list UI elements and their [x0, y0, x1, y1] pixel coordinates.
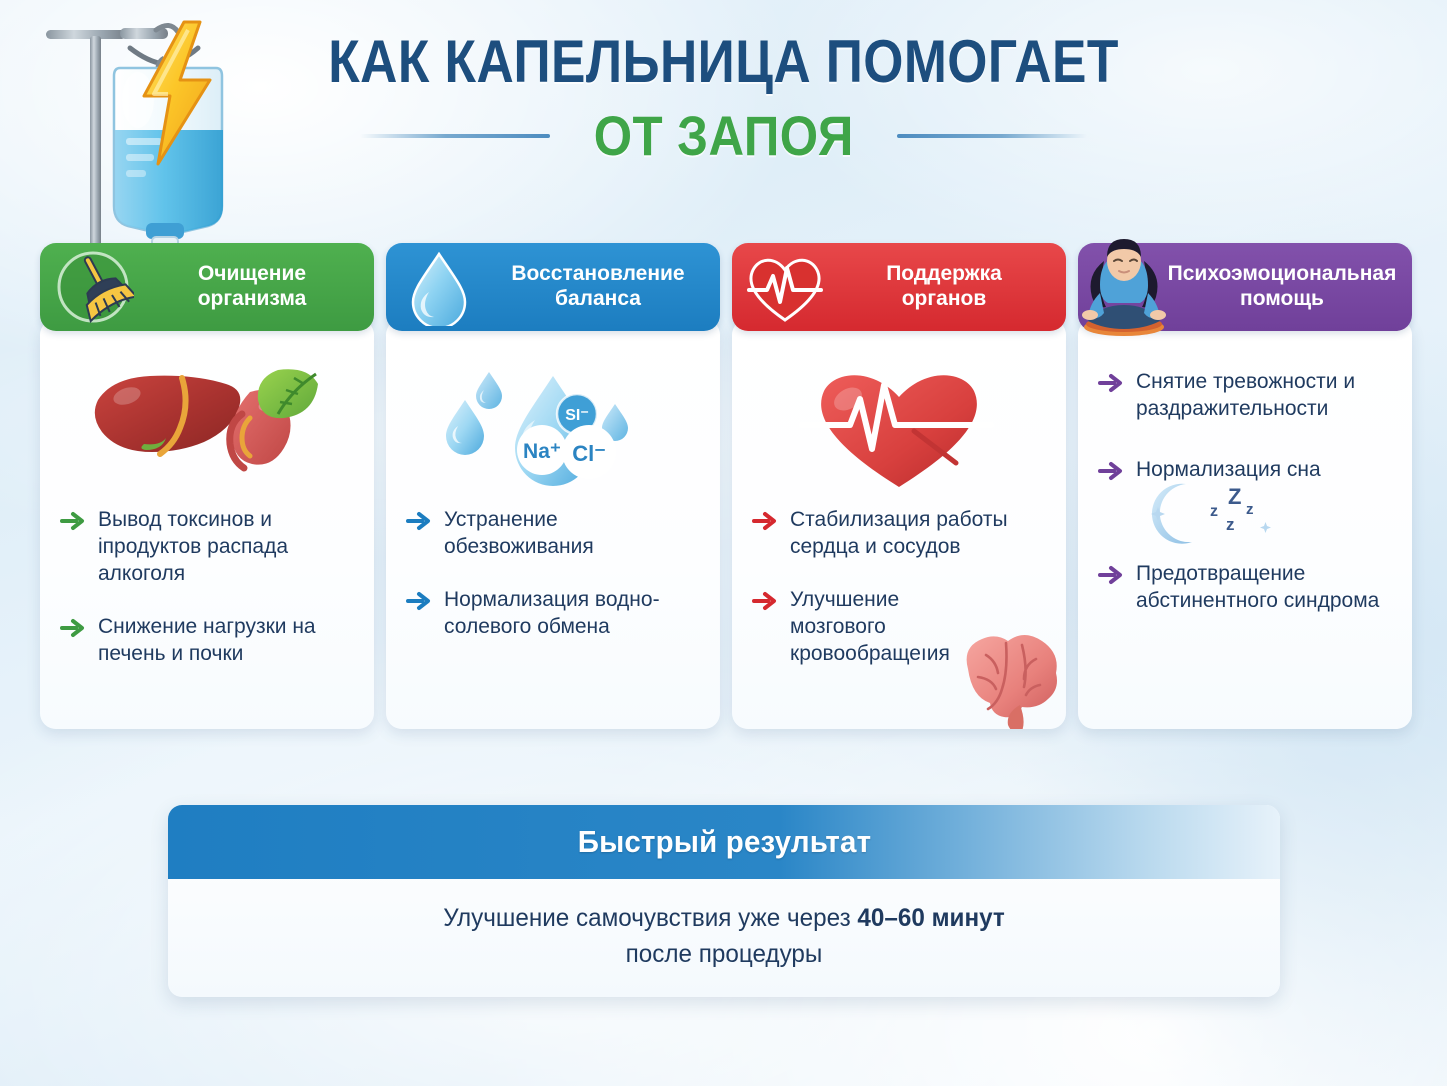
svg-text:Na⁺: Na⁺	[523, 440, 561, 463]
card-title-psycho: Психоэмоциональнаяпомощь	[1166, 261, 1398, 311]
bullet-item: Нормализация водно-солевого обмена	[406, 587, 702, 641]
bullet-item: Вывод токсинов и іпродуктов распада алко…	[60, 507, 356, 588]
bullet-list-balance: Устранение обезвоживания Нормализация во…	[402, 503, 704, 641]
card-title-balance: Восстановлениебаланса	[490, 261, 706, 311]
lightning-bolt-icon	[130, 18, 222, 168]
moon-zzz-icon: Z z z z	[1142, 478, 1394, 555]
banner-text-before: Улучшение самочувствия уже через	[443, 904, 857, 932]
card-body-cleansing: Вывод токсинов и іпродуктов распада алко…	[40, 319, 374, 729]
heart-pulse-illustration	[748, 353, 1050, 503]
card-header-balance: Восстановлениебаланса	[386, 243, 720, 331]
bullet-text: Улучшение мозгового кровообращеıия	[790, 587, 968, 668]
svg-text:z: z	[1226, 515, 1235, 534]
card-header-cleansing: Очищениеорганизма	[40, 243, 374, 331]
title-rule-left	[360, 134, 550, 138]
card-title-cleansing: Очищениеорганизма	[144, 261, 360, 311]
arrow-right-icon	[406, 591, 432, 616]
svg-text:z: z	[1210, 503, 1218, 520]
psycho-visual-spacer	[1094, 353, 1396, 363]
broom-icon	[52, 246, 134, 328]
benefit-cards: Очищениеорганизма	[40, 243, 1415, 729]
card-title-organs: Поддержкаорганов	[836, 261, 1052, 311]
ion-top-label: SI⁻	[565, 407, 589, 424]
page-title-line-1: КАК КАПЕЛЬНИЦА ПОМОГАЕТ	[101, 30, 1345, 93]
banner-line-2: после процедуры	[223, 937, 1224, 973]
svg-text:Cl⁻: Cl⁻	[572, 441, 606, 466]
banner-body: Улучшение самочувствия уже через 40–60 м…	[168, 879, 1280, 972]
water-drops-electrolytes-icon: SI⁻ Na⁺ Cl⁻	[402, 353, 704, 503]
bullet-item: Устранение обезвоживания	[406, 507, 702, 561]
card-psycho[interactable]: Психоэмоциональнаяпомощь Снятие тревожно…	[1078, 243, 1412, 729]
bullet-item: Нормализация сна	[1098, 457, 1394, 486]
banner-heading: Быстрый результат	[577, 824, 870, 860]
arrow-right-icon	[406, 511, 432, 536]
banner-line-1: Улучшение самочувствия уже через 40–60 м…	[223, 901, 1224, 937]
heart-pulse-icon	[744, 246, 826, 328]
bullet-text: Снятие тревожности и раздражительности	[1136, 369, 1394, 423]
bullet-list-organs: Стабилизация работы сердца и сосудов Улу…	[748, 503, 1050, 667]
svg-text:Z: Z	[1228, 484, 1241, 509]
liver-kidney-leaf-icon	[56, 353, 358, 503]
card-cleansing[interactable]: Очищениеорганизма	[40, 243, 374, 729]
card-header-psycho: Психоэмоциональнаяпомощь	[1078, 243, 1412, 331]
bullet-text: Устранение обезвоживания	[444, 507, 702, 561]
bullet-list-psycho: Снятие тревожности и раздражительности Н…	[1094, 363, 1396, 615]
arrow-right-icon	[60, 511, 86, 536]
infographic-canvas: КАК КАПЕЛЬНИЦА ПОМОГАЕТ ОТ ЗАПОЯ	[0, 0, 1447, 1086]
card-body-balance: SI⁻ Na⁺ Cl⁻ Устранение обезвоживания	[386, 319, 720, 729]
arrow-right-icon	[1098, 461, 1124, 486]
bullet-item: Предотвращение абстинентного синдрома	[1098, 561, 1394, 615]
arrow-right-icon	[60, 618, 86, 643]
arrow-right-icon	[1098, 373, 1124, 398]
svg-text:z: z	[1246, 501, 1254, 518]
card-header-organs: Поддержкаорганов	[732, 243, 1066, 331]
bullet-item: Снижение нагрузки на печень и почки	[60, 614, 356, 668]
fast-result-banner[interactable]: Быстрый результат Улучшение самочувствия…	[168, 805, 1280, 997]
bullet-text: Нормализация сна	[1136, 457, 1321, 484]
arrow-right-icon	[752, 591, 778, 616]
bullet-text: Снижение нагрузки на печень и почки	[98, 614, 356, 668]
banner-highlight: 40–60 минут	[857, 904, 1004, 932]
card-balance[interactable]: Восстановлениебаланса	[386, 243, 720, 729]
bullet-text: Предотвращение абстинентного синдрома	[1136, 561, 1394, 615]
bullet-item: Стабилизация работы сердца и сосудов	[752, 507, 1048, 561]
banner-header: Быстрый результат	[168, 805, 1280, 879]
bullet-item: Снятие тревожности и раздражительности	[1098, 369, 1394, 423]
arrow-right-icon	[1098, 565, 1124, 590]
bullet-text: Нормализация водно-солевого обмена	[444, 587, 702, 641]
arrow-right-icon	[752, 511, 778, 536]
card-body-psycho: Снятие тревожности и раздражительности Н…	[1078, 319, 1412, 729]
title-rule-right	[897, 134, 1087, 138]
water-drop-icon	[398, 246, 480, 328]
bullet-text: Вывод токсинов и іпродуктов распада алко…	[98, 507, 356, 588]
brain-icon	[948, 625, 1066, 729]
page-title-line-2: ОТ ЗАПОЯ	[594, 103, 854, 168]
card-organs[interactable]: Поддержкаорганов	[732, 243, 1066, 729]
card-body-organs: Стабилизация работы сердца и сосудов Улу…	[732, 319, 1066, 729]
bullet-text: Стабилизация работы сердца и сосудов	[790, 507, 1048, 561]
meditating-woman-icon	[1078, 237, 1170, 337]
bullet-list-cleansing: Вывод токсинов и іпродуктов распада алко…	[56, 503, 358, 667]
